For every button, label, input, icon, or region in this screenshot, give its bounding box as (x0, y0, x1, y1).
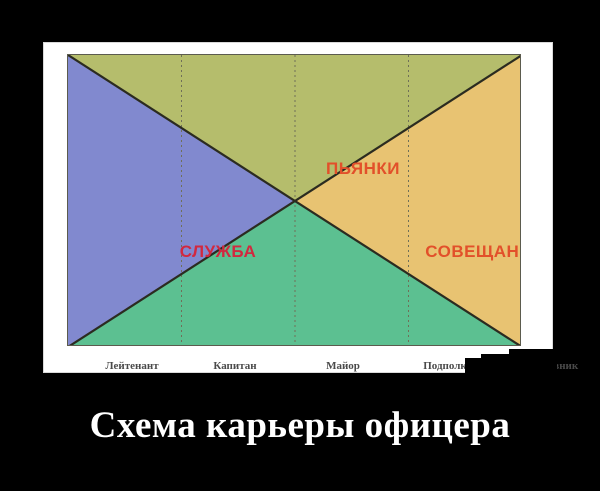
poster-caption: Схема карьеры офицера (0, 404, 600, 447)
tick-label-mayor: Майор (326, 360, 360, 372)
tick-label-leytenant: Лейтенант (105, 360, 158, 372)
career-scheme-svg (68, 55, 521, 346)
black-artifact-patch (481, 354, 557, 375)
picture-frame: СЛУЖБА ПЬЯНКИ СОВЕЩАНИЯ КОМАНДИРОВКИ Лей… (43, 42, 553, 373)
chart-container: СЛУЖБА ПЬЯНКИ СОВЕЩАНИЯ КОМАНДИРОВКИ Лей… (67, 54, 521, 346)
demotivator-poster: СЛУЖБА ПЬЯНКИ СОВЕЩАНИЯ КОМАНДИРОВКИ Лей… (0, 0, 600, 491)
tick-label-kapitan: Капитан (213, 360, 256, 372)
chart-plot-area: СЛУЖБА ПЬЯНКИ СОВЕЩАНИЯ КОМАНДИРОВКИ (67, 54, 521, 346)
